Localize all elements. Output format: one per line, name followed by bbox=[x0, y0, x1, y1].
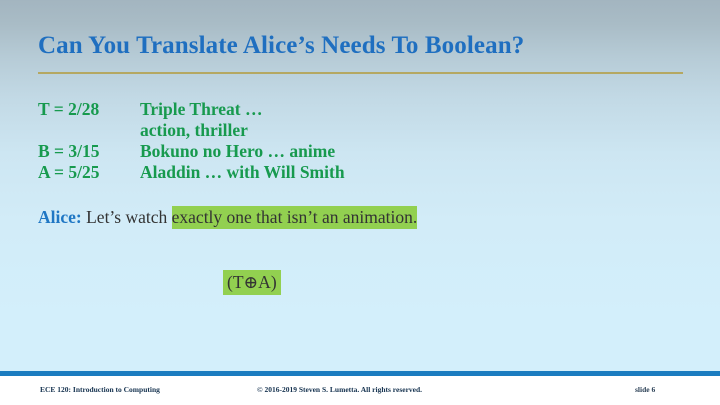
movie-key-t: T = 2/28 bbox=[38, 99, 140, 120]
footer-course-label: ECE 120: Introduction to Computing bbox=[40, 385, 160, 394]
alice-plain-text: Let’s watch bbox=[82, 207, 172, 227]
list-item: T = 2/28 Triple Threat … action, thrille… bbox=[38, 99, 658, 141]
boolean-expression-text: (T⊕A) bbox=[223, 270, 281, 295]
footer-copyright-label: © 2016-2019 Steven S. Lumetta. All right… bbox=[257, 385, 422, 394]
title-underline-rule bbox=[38, 72, 683, 74]
movie-variable-list: T = 2/28 Triple Threat … action, thrille… bbox=[38, 99, 658, 183]
footer: ECE 120: Introduction to Computing © 201… bbox=[0, 385, 720, 399]
list-item: A = 5/25 Aladdin … with Will Smith bbox=[38, 162, 658, 183]
footer-slide-number: slide 6 bbox=[635, 385, 655, 394]
movie-description-b: Bokuno no Hero … anime bbox=[140, 141, 658, 162]
movie-key-b: B = 3/15 bbox=[38, 141, 140, 162]
boolean-expression: (T⊕A) bbox=[223, 271, 281, 293]
alice-highlighted-text: exactly one that isn’t an animation. bbox=[172, 206, 418, 229]
movie-key-a: A = 5/25 bbox=[38, 162, 140, 183]
slide-canvas: Can You Translate Alice’s Needs To Boole… bbox=[0, 0, 720, 405]
list-item: B = 3/15 Bokuno no Hero … anime bbox=[38, 141, 658, 162]
movie-description-t: Triple Threat … action, thriller bbox=[140, 99, 658, 141]
alice-statement: Alice: Let’s watch exactly one that isn’… bbox=[38, 205, 483, 229]
movie-description-a: Aladdin … with Will Smith bbox=[140, 162, 658, 183]
page-title: Can You Translate Alice’s Needs To Boole… bbox=[38, 32, 688, 60]
alice-speaker-label: Alice: bbox=[38, 207, 82, 227]
